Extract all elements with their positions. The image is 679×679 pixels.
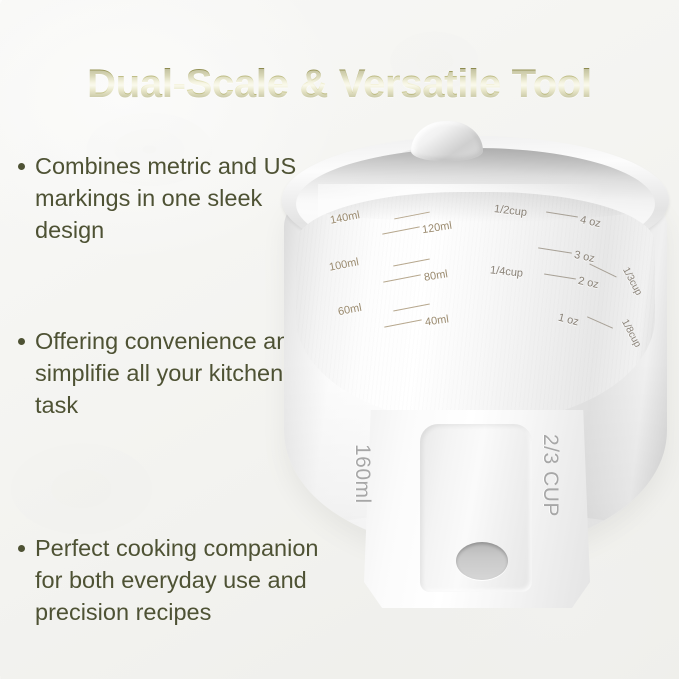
bullet-dot-icon <box>18 338 25 345</box>
measuring-cup-image: 140ml 120ml 100ml 80ml 60ml 40ml 1/2cup … <box>272 118 679 628</box>
handle-capacity-cup-label: 2/3 CUP <box>538 434 562 517</box>
product-feature-banner: Dual-Scale & Versatile Tool Combines met… <box>0 0 679 679</box>
bullet-dot-icon <box>18 545 25 552</box>
page-title: Dual-Scale & Versatile Tool <box>0 62 679 107</box>
cup-pour-spout <box>411 121 483 161</box>
handle-hanging-hole <box>456 542 508 580</box>
cup-handle: 160ml 2/3 CUP <box>364 410 590 610</box>
bullet-dot-icon <box>18 163 25 170</box>
handle-capacity-ml-label: 160ml <box>350 444 374 504</box>
